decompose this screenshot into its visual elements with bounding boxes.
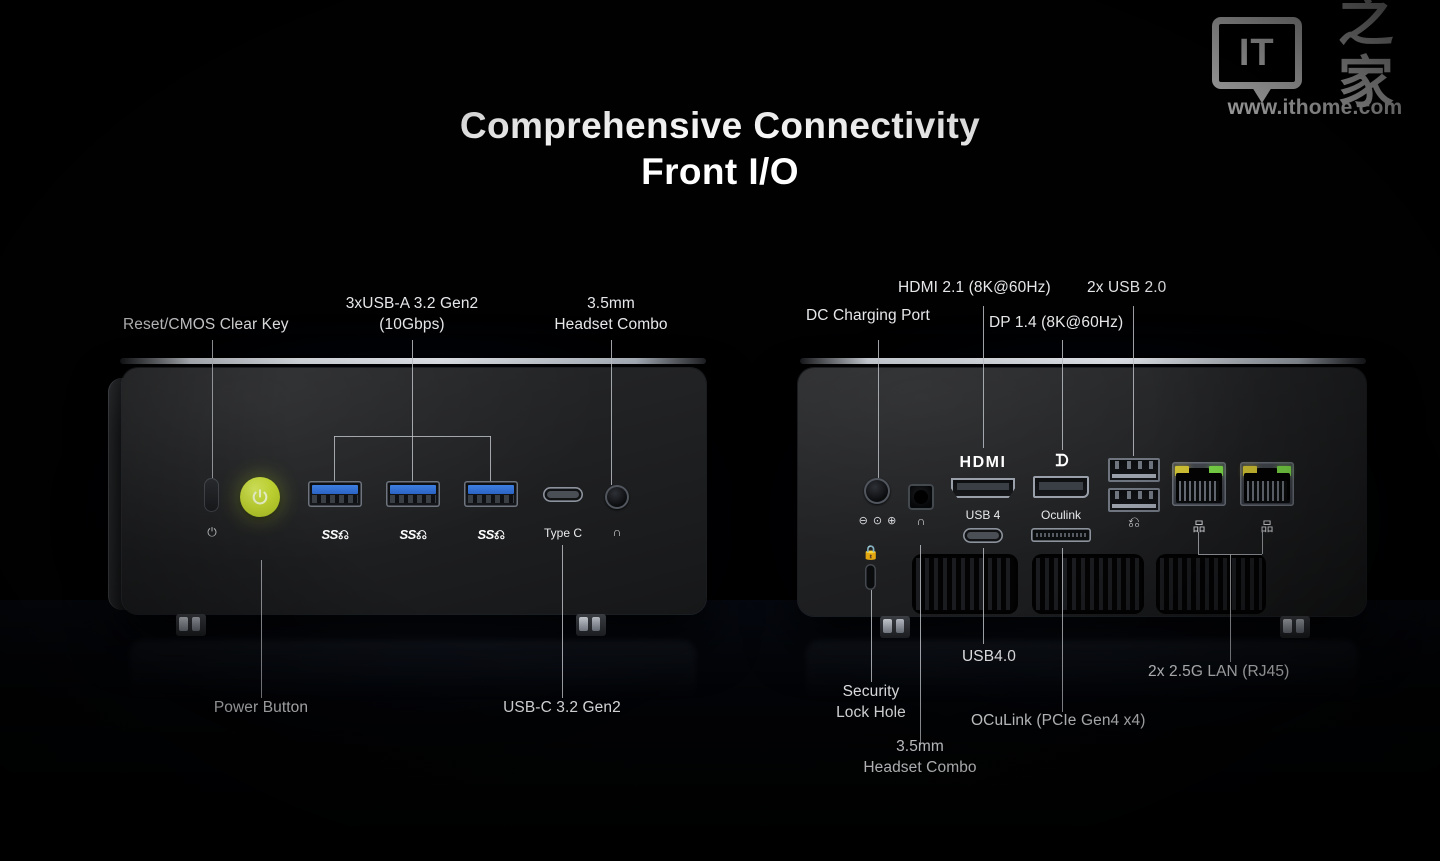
leader-usb2 xyxy=(1133,306,1134,456)
usb-ss-label-3: SS⎌ xyxy=(461,526,521,543)
rear-foot-right xyxy=(1280,616,1310,638)
leader-usb-a-bracket xyxy=(334,436,491,437)
callout-usb2: 2x USB 2.0 xyxy=(1087,277,1166,298)
reset-power-glyph: ⏻ xyxy=(196,525,228,540)
usb-ss-label-1: SS⎌ xyxy=(305,526,365,543)
usb-c-port[interactable] xyxy=(543,487,583,502)
callout-lan: 2x 2.5G LAN (RJ45) xyxy=(1148,661,1289,682)
usb4-port-label: USB 4 xyxy=(953,508,1013,522)
leader-usb-a-stem xyxy=(412,340,413,481)
leader-power-button xyxy=(261,560,262,698)
leader-usb-c xyxy=(562,545,563,698)
oculink-port-label: Oculink xyxy=(1031,508,1091,522)
callout-hdmi: HDMI 2.1 (8K@60Hz) xyxy=(898,277,1051,298)
headphone-icon-front: ∩ xyxy=(601,525,633,539)
network-icon-2: 品 xyxy=(1248,516,1286,535)
dc-charging-port[interactable] xyxy=(864,478,890,504)
callout-usb-c: USB-C 3.2 Gen2 xyxy=(482,697,642,718)
usb-ss-label-2: SS⎌ xyxy=(383,526,443,543)
logo-row: IT 之家 xyxy=(1212,14,1418,92)
security-lock-hole[interactable] xyxy=(865,564,876,590)
leader-lan-right xyxy=(1262,532,1263,554)
leader-oculink xyxy=(1062,548,1063,712)
leader-usb-a-right xyxy=(490,436,491,481)
callout-usb-a: 3xUSB-A 3.2 Gen2 (10Gbps) xyxy=(332,293,492,335)
leader-dc xyxy=(878,340,879,478)
displayport-icon: ᗪ xyxy=(1037,453,1087,471)
callout-dp: DP 1.4 (8K@60Hz) xyxy=(989,312,1123,333)
leader-lan-stem xyxy=(1230,554,1231,662)
usb2-port-1[interactable] xyxy=(1108,458,1160,482)
type-c-label: Type C xyxy=(533,526,593,540)
front-top-lip xyxy=(120,358,706,364)
leader-security xyxy=(871,590,872,682)
hdmi-wordmark: HDMI xyxy=(938,454,1028,472)
vent-grille-1 xyxy=(912,554,1018,614)
lan-port-2[interactable] xyxy=(1240,462,1294,506)
front-foot-right xyxy=(576,614,606,636)
usb-a-port-3[interactable] xyxy=(464,481,518,507)
callout-oculink: OCuLink (PCIe Gen4 x4) xyxy=(971,710,1146,731)
usb-trident-icon: ⎌ xyxy=(1110,514,1158,531)
status-led-slot xyxy=(204,478,219,512)
displayport-port[interactable] xyxy=(1033,476,1089,498)
hdmi-port[interactable] xyxy=(951,478,1015,498)
leader-usb4 xyxy=(983,548,984,644)
headline-line-2: Front I/O xyxy=(0,149,1440,195)
headset-jack-front[interactable] xyxy=(605,485,629,509)
callout-headset-rear: 3.5mm Headset Combo xyxy=(855,736,985,778)
callout-usb4: USB4.0 xyxy=(962,646,1016,667)
vent-grille-2 xyxy=(1032,554,1144,614)
usb-a-port-1[interactable] xyxy=(308,481,362,507)
it-logo-icon: IT xyxy=(1212,17,1302,89)
usb4-port[interactable] xyxy=(963,528,1003,543)
network-icon-1: 品 xyxy=(1180,516,1218,535)
rear-foot-left xyxy=(880,616,910,638)
headphone-icon-rear: ∩ xyxy=(905,514,937,528)
usb2-port-2[interactable] xyxy=(1108,488,1160,512)
leader-headset-front xyxy=(611,340,612,485)
leader-usb-a-left xyxy=(334,436,335,481)
vent-grille-3 xyxy=(1156,554,1266,614)
lan-port-1[interactable] xyxy=(1172,462,1226,506)
headline-line-1: Comprehensive Connectivity xyxy=(0,103,1440,149)
leader-hdmi xyxy=(983,306,984,448)
rear-top-lip xyxy=(800,358,1366,364)
callout-power-button: Power Button xyxy=(181,697,341,718)
it-logo-text: IT xyxy=(1212,17,1302,89)
power-icon xyxy=(251,488,270,507)
usb-a-port-2[interactable] xyxy=(386,481,440,507)
callout-reset: Reset/CMOS Clear Key xyxy=(123,314,289,335)
callout-security: Security Lock Hole xyxy=(806,681,936,723)
leader-reset xyxy=(212,340,213,478)
callout-headset-front: 3.5mm Headset Combo xyxy=(531,293,691,335)
leader-dp xyxy=(1062,340,1063,450)
oculink-port[interactable] xyxy=(1031,528,1091,542)
front-foot-left xyxy=(176,614,206,636)
leader-lan-left xyxy=(1198,532,1199,554)
headset-jack-rear[interactable] xyxy=(908,484,934,510)
power-button[interactable] xyxy=(240,477,280,517)
page-title: Comprehensive Connectivity Front I/O xyxy=(0,103,1440,195)
callout-dc: DC Charging Port xyxy=(806,305,930,326)
lock-icon: 🔒 xyxy=(858,544,884,561)
dc-polarity-label: ⊖ ⊙ ⊕ xyxy=(849,514,907,527)
